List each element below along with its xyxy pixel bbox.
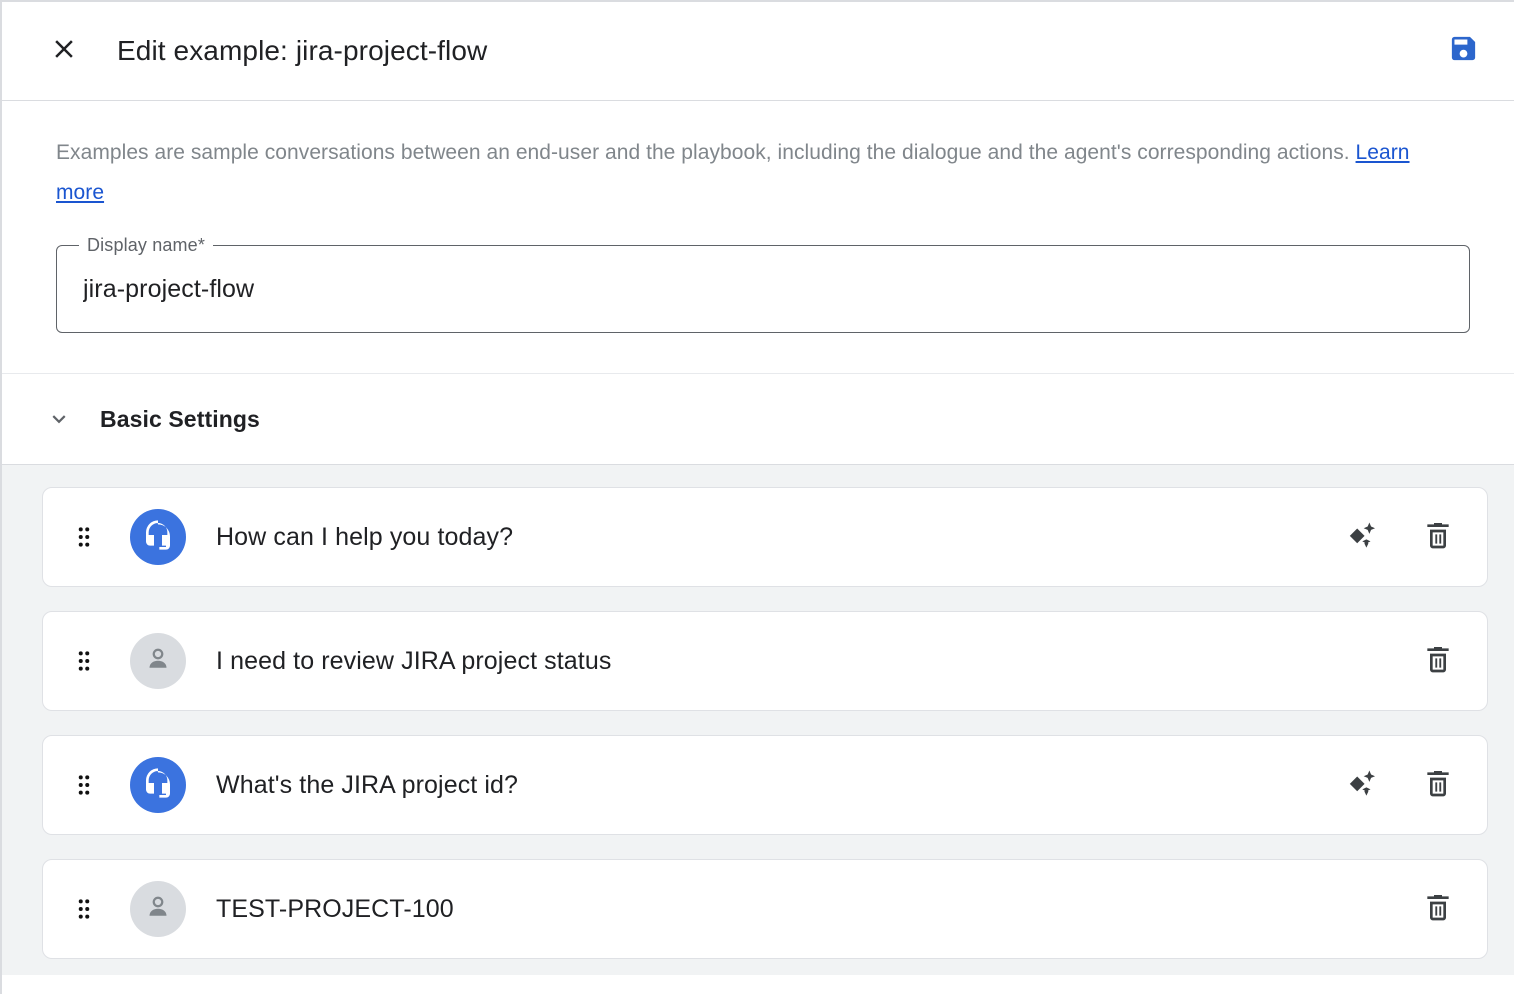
conversation-text: I need to review JIRA project status [216,647,1399,676]
delete-button[interactable] [1415,514,1461,560]
chevron-down-icon [46,406,72,432]
basic-settings-title: Basic Settings [100,406,260,433]
conversation-row[interactable]: TEST-PROJECT-100 [42,859,1488,959]
person-icon [143,892,173,927]
delete-button[interactable] [1415,762,1461,808]
trash-icon [1422,519,1454,556]
description-text: Examples are sample conversations betwee… [56,133,1436,213]
avatar [130,757,186,813]
trash-icon [1422,643,1454,680]
trash-icon [1422,891,1454,928]
description-block: Examples are sample conversations betwee… [2,101,1514,213]
drag-handle-icon[interactable] [67,892,101,926]
close-button[interactable] [42,29,86,73]
delete-button[interactable] [1415,638,1461,684]
avatar [130,881,186,937]
conversation-row[interactable]: How can I help you today? [42,487,1488,587]
drag-handle-icon[interactable] [67,520,101,554]
conversation-text: TEST-PROJECT-100 [216,895,1399,924]
delete-button[interactable] [1415,886,1461,932]
row-actions [1415,886,1461,932]
drag-handle-icon[interactable] [67,768,101,802]
headset-icon [142,767,174,804]
conversation-list: How can I help you today? [2,464,1514,975]
page-title: Edit example: jira-project-flow [117,35,487,67]
conversation-text: What's the JIRA project id? [216,771,1323,800]
conversation-text: How can I help you today? [216,523,1323,552]
description-body: Examples are sample conversations betwee… [56,141,1356,164]
row-actions [1339,514,1461,560]
save-button[interactable] [1440,28,1486,74]
display-name-input[interactable] [83,275,1443,304]
conversation-row[interactable]: I need to review JIRA project status [42,611,1488,711]
close-icon [49,34,79,69]
conversation-row[interactable]: What's the JIRA project id? [42,735,1488,835]
display-name-field[interactable]: Display name* [56,245,1470,333]
basic-settings-header[interactable]: Basic Settings [2,374,1514,464]
headset-icon [142,519,174,556]
row-actions [1339,762,1461,808]
row-actions [1415,638,1461,684]
avatar [130,509,186,565]
display-name-label: Display name* [79,234,213,256]
avatar [130,633,186,689]
dialog-header: Edit example: jira-project-flow [2,2,1514,101]
trash-icon [1422,767,1454,804]
sparkle-button[interactable] [1339,762,1385,808]
drag-handle-icon[interactable] [67,644,101,678]
sparkle-icon [1345,766,1379,805]
sparkle-icon [1345,518,1379,557]
person-icon [143,644,173,679]
edit-example-dialog: Edit example: jira-project-flow Examples… [0,0,1514,994]
save-icon [1448,33,1479,69]
sparkle-button[interactable] [1339,514,1385,560]
display-name-field-wrap: Display name* [2,213,1514,373]
